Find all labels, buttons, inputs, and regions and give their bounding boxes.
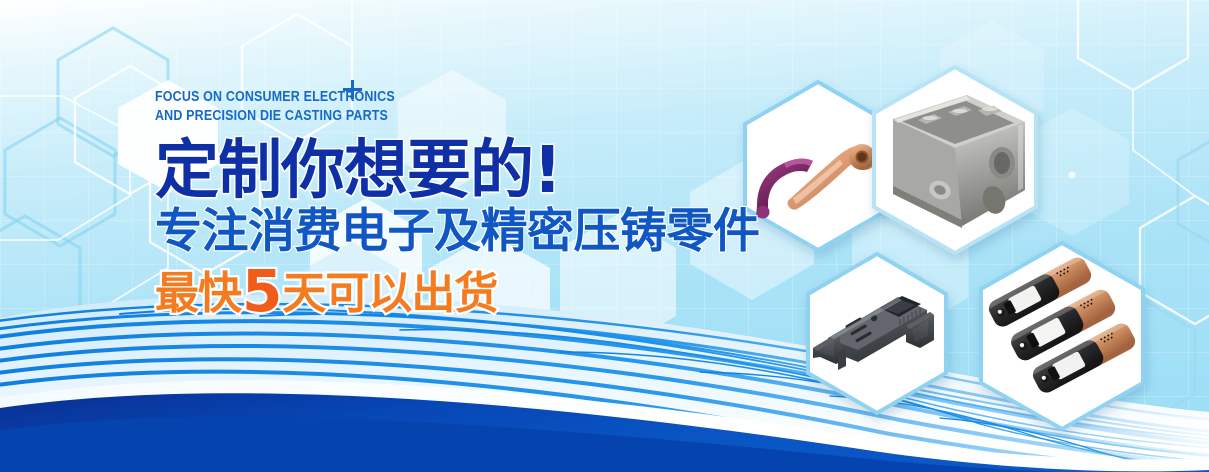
page-title: 定制你想要的! [155,136,775,206]
tagline-prefix: 最快 [155,268,241,319]
subtitle: 专注消费电子及精密压铸零件 [155,204,775,260]
plus-icon [343,80,363,100]
eyebrow-line-2: AND PRECISION DIE CASTING PARTS [155,107,395,126]
promotional-banner: FOCUS ON CONSUMER ELECTRONICS AND PRECIS… [0,0,1209,472]
headline-text-group: FOCUS ON CONSUMER ELECTRONICS AND PRECIS… [155,88,775,321]
eyebrow-wrapper: FOCUS ON CONSUMER ELECTRONICS AND PRECIS… [155,88,434,126]
tagline-suffix: 天可以出货 [282,268,497,319]
node-dot [127,129,134,136]
tagline-number: 5 [241,257,282,325]
tagline: 最快5天可以出货 [155,264,775,321]
node-dot [1069,172,1076,179]
